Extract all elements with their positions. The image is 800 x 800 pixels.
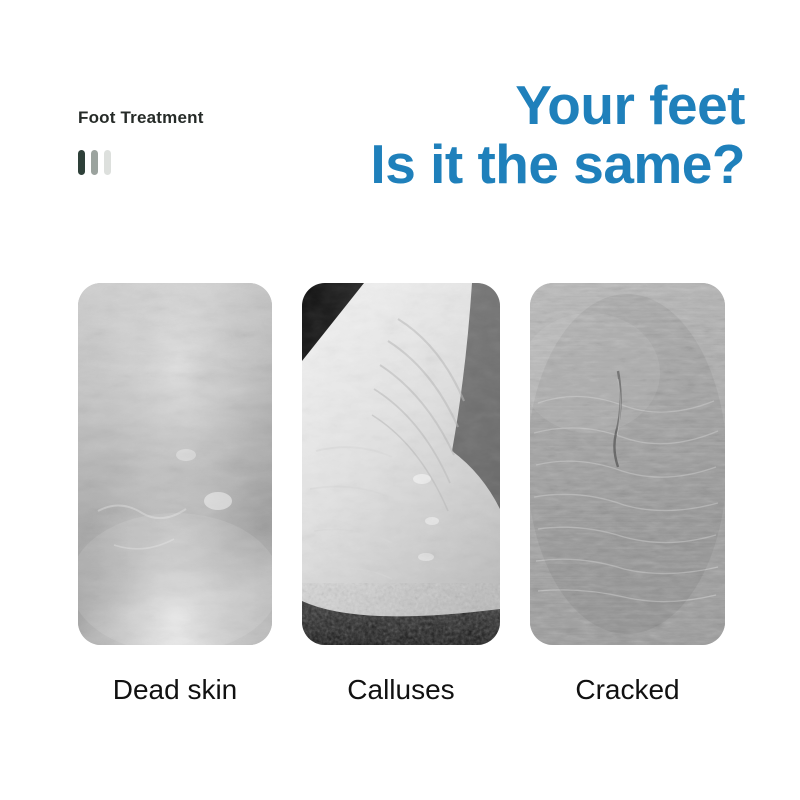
headline-line-1: Your feet bbox=[370, 76, 745, 135]
photo-cracked bbox=[530, 283, 725, 645]
headline: Your feet Is it the same? bbox=[370, 76, 745, 195]
caption-cracked: Cracked bbox=[530, 668, 725, 712]
photo-dead-skin bbox=[78, 283, 272, 645]
photo-calluses bbox=[302, 283, 500, 645]
gallery-card-dead-skin bbox=[78, 283, 272, 645]
accent-bar-medium bbox=[91, 150, 98, 175]
promo-poster: Foot Treatment Your feet Is it the same? bbox=[0, 0, 800, 800]
brand-block: Foot Treatment bbox=[78, 108, 378, 175]
headline-line-2: Is it the same? bbox=[370, 135, 745, 194]
brand-label: Foot Treatment bbox=[78, 108, 378, 128]
caption-calluses: Calluses bbox=[302, 668, 500, 712]
image-gallery bbox=[78, 283, 725, 645]
gallery-card-cracked bbox=[530, 283, 725, 645]
accent-bar-dark bbox=[78, 150, 85, 175]
accent-bar-group bbox=[78, 150, 378, 175]
gallery-card-calluses bbox=[302, 283, 500, 645]
gallery-captions: Dead skin Calluses Cracked bbox=[78, 668, 725, 712]
caption-dead-skin: Dead skin bbox=[78, 668, 272, 712]
accent-bar-light bbox=[104, 150, 111, 175]
